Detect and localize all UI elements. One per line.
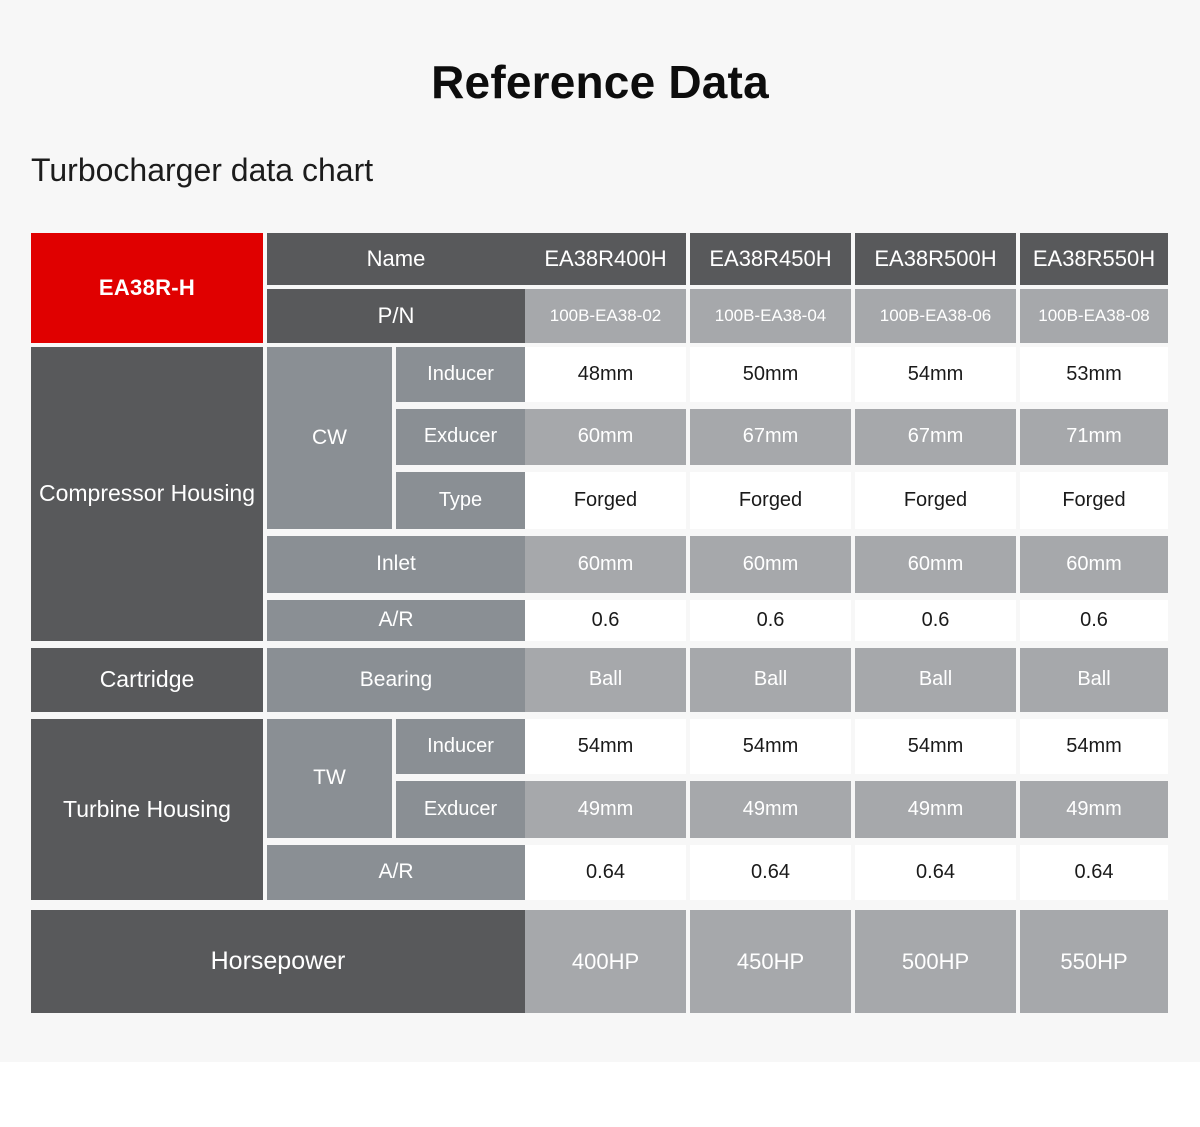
compressor-ar-value-3: 0.6 (855, 600, 1016, 641)
cw-inducer-value-3: 54mm (855, 347, 1016, 402)
compressor-ar-value-4: 0.6 (1020, 600, 1168, 641)
cw-inducer-value-2: 50mm (690, 347, 851, 402)
cw-inducer-value-4: 53mm (1020, 347, 1168, 402)
tw-exducer-value-3: 49mm (855, 781, 1016, 838)
column-pn-3: 100B-EA38-06 (855, 289, 1016, 343)
column-pn-2: 100B-EA38-04 (690, 289, 851, 343)
turbine-ar-value-3: 0.64 (855, 845, 1016, 900)
cw-type-value-4: Forged (1020, 472, 1168, 529)
inlet-value-1: 60mm (525, 536, 686, 593)
turbine-ar-value-1: 0.64 (525, 845, 686, 900)
cw-exducer-value-2: 67mm (690, 409, 851, 465)
bearing-value-4: Ball (1020, 648, 1168, 712)
group-label-tw: TW (267, 719, 392, 838)
cw-type-value-1: Forged (525, 472, 686, 529)
row-label-compressor-ar: A/R (267, 600, 525, 641)
horsepower-value-4: 550HP (1020, 910, 1168, 1013)
cw-type-value-2: Forged (690, 472, 851, 529)
section-label-compressor-housing: Compressor Housing (31, 347, 263, 641)
tw-inducer-value-2: 54mm (690, 719, 851, 774)
inlet-value-2: 60mm (690, 536, 851, 593)
row-label-tw-inducer: Inducer (396, 719, 525, 774)
row-label-cw-exducer: Exducer (396, 409, 525, 465)
column-header-name-4: EA38R550H (1020, 233, 1168, 285)
row-label-bearing: Bearing (267, 648, 525, 712)
page-subtitle: Turbocharger data chart (31, 152, 373, 189)
horsepower-value-2: 450HP (690, 910, 851, 1013)
turbine-ar-value-2: 0.64 (690, 845, 851, 900)
column-header-name-2: EA38R450H (690, 233, 851, 285)
series-badge: EA38R-H (31, 233, 263, 343)
column-pn-4: 100B-EA38-08 (1020, 289, 1168, 343)
section-label-turbine-housing: Turbine Housing (31, 719, 263, 900)
section-label-cartridge: Cartridge (31, 648, 263, 712)
bearing-value-2: Ball (690, 648, 851, 712)
tw-exducer-value-2: 49mm (690, 781, 851, 838)
horsepower-value-1: 400HP (525, 910, 686, 1013)
bearing-value-1: Ball (525, 648, 686, 712)
horsepower-value-3: 500HP (855, 910, 1016, 1013)
column-header-name-3: EA38R500H (855, 233, 1016, 285)
compressor-ar-value-2: 0.6 (690, 600, 851, 641)
column-header-name-1: EA38R400H (525, 233, 686, 285)
cw-exducer-value-3: 67mm (855, 409, 1016, 465)
row-label-name: Name (267, 233, 525, 285)
row-label-cw-type: Type (396, 472, 525, 529)
bearing-value-3: Ball (855, 648, 1016, 712)
compressor-ar-value-1: 0.6 (525, 600, 686, 641)
inlet-value-3: 60mm (855, 536, 1016, 593)
row-label-horsepower: Horsepower (31, 910, 525, 1013)
group-label-cw: CW (267, 347, 392, 529)
cw-type-value-3: Forged (855, 472, 1016, 529)
row-label-turbine-ar: A/R (267, 845, 525, 900)
tw-inducer-value-3: 54mm (855, 719, 1016, 774)
tw-exducer-value-4: 49mm (1020, 781, 1168, 838)
turbocharger-data-table: EA38R-H Name P/N EA38R400H EA38R450H EA3… (31, 233, 1168, 1013)
inlet-value-4: 60mm (1020, 536, 1168, 593)
row-label-cw-inducer: Inducer (396, 347, 525, 402)
row-label-pn: P/N (267, 289, 525, 343)
cw-exducer-value-1: 60mm (525, 409, 686, 465)
row-label-tw-exducer: Exducer (396, 781, 525, 838)
page-title: Reference Data (0, 55, 1200, 109)
reference-data-page: Reference Data Turbocharger data chart E… (0, 0, 1200, 1127)
cw-exducer-value-4: 71mm (1020, 409, 1168, 465)
tw-exducer-value-1: 49mm (525, 781, 686, 838)
turbine-ar-value-4: 0.64 (1020, 845, 1168, 900)
row-label-inlet: Inlet (267, 536, 525, 593)
column-pn-1: 100B-EA38-02 (525, 289, 686, 343)
tw-inducer-value-1: 54mm (525, 719, 686, 774)
tw-inducer-value-4: 54mm (1020, 719, 1168, 774)
cw-inducer-value-1: 48mm (525, 347, 686, 402)
